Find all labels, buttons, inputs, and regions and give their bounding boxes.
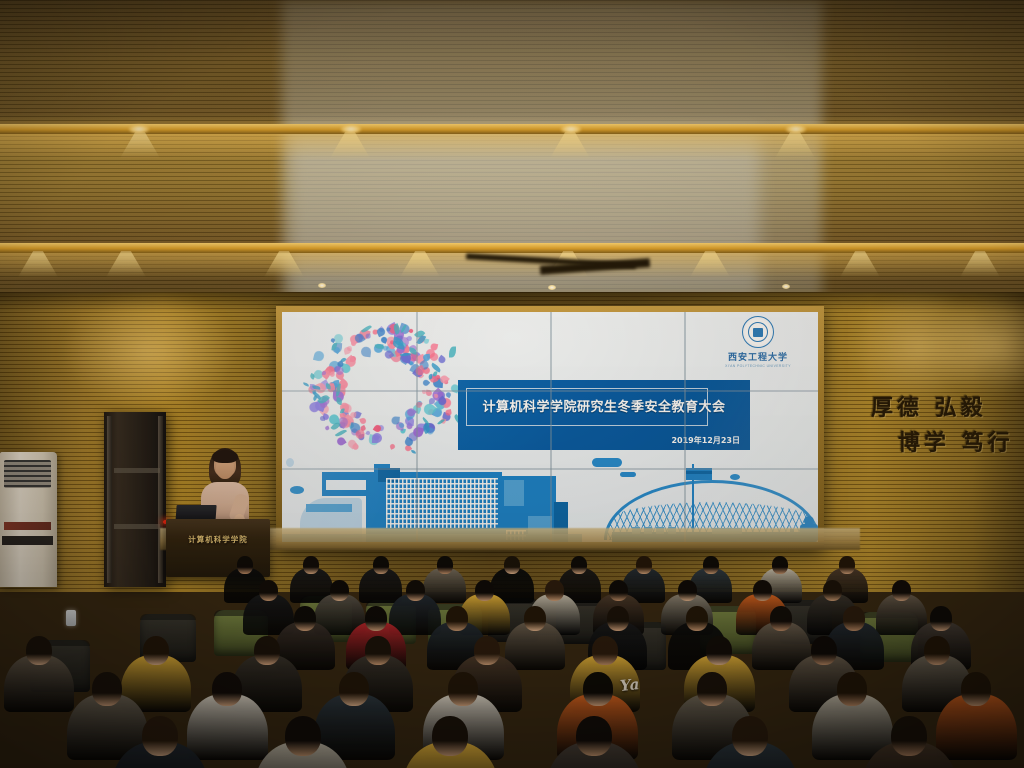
cove-lamp xyxy=(785,124,807,134)
audience-member-head xyxy=(26,636,52,665)
audience-member-head xyxy=(609,580,628,601)
cove-lamp xyxy=(128,124,150,134)
flower-leaf xyxy=(335,397,342,405)
flower-petal xyxy=(431,344,439,352)
jacket-lettering: Ya xyxy=(619,675,640,695)
audience-member-head xyxy=(753,580,772,601)
flower-petal xyxy=(359,418,367,426)
audience-member-head xyxy=(475,580,494,601)
wall-motto-line-1: 厚德 弘毅 xyxy=(871,390,987,422)
screen-bezel-horizontal xyxy=(282,390,818,392)
flower-leaf xyxy=(303,382,310,387)
audience-member-head xyxy=(703,556,719,574)
audience-member-head xyxy=(448,672,478,706)
audience-member-head xyxy=(303,556,319,574)
audience-member-head xyxy=(339,672,369,706)
ceiling-downlight xyxy=(782,284,790,289)
audience-member-head xyxy=(142,716,178,756)
flower-petal xyxy=(434,394,439,399)
flower-petal xyxy=(351,341,356,346)
rack-shelf xyxy=(114,468,160,473)
audience-member-head xyxy=(365,636,391,665)
cove-lamp xyxy=(560,124,582,134)
rack-rail-right xyxy=(158,416,163,583)
presenter-fringe xyxy=(212,450,238,463)
ac-lower-strip xyxy=(2,536,53,545)
screen-bezel-vertical xyxy=(550,312,552,542)
audience-member-head xyxy=(583,672,613,706)
audience-member-head xyxy=(732,716,768,756)
flower-petal xyxy=(376,327,386,337)
cove-lamp xyxy=(340,124,362,134)
audience-member-head xyxy=(524,606,546,631)
audience-member-head xyxy=(811,636,837,665)
audience-member-head xyxy=(823,580,842,601)
audience-member-head xyxy=(772,556,788,574)
audience-member-head xyxy=(294,606,316,631)
av-equipment-rack xyxy=(104,412,166,587)
ceiling-downlight xyxy=(318,283,326,288)
photo-scene: 厚德 弘毅 博学 笃行 xyxy=(0,0,1024,768)
flower-leaf xyxy=(449,347,456,358)
audience-member-head xyxy=(924,636,950,665)
slide-title-text: 计算机科学学院研究生冬季安全教育大会 xyxy=(472,396,736,415)
audience-member-head xyxy=(330,580,349,601)
audience-member-head xyxy=(697,672,727,706)
video-wall-frame: 计算机科学学院研究生冬季安全教育大会 2019年12月23日 西安工程大学 XI… xyxy=(276,306,824,548)
audience-member-head xyxy=(636,556,652,574)
cloud-graphic xyxy=(290,486,304,494)
audience-member-head xyxy=(365,606,387,631)
presentation-screen[interactable]: 计算机科学学院研究生冬季安全教育大会 2019年12月23日 西安工程大学 XI… xyxy=(282,312,818,542)
audience-member-head xyxy=(843,606,865,631)
audience-member-head xyxy=(437,556,453,574)
screen-bezel-vertical xyxy=(416,312,418,542)
university-name-cn: 西安工程大学 xyxy=(710,350,806,363)
ac-vent-grille xyxy=(4,460,51,488)
podium-sign-text: 计算机科学学院 xyxy=(174,534,262,545)
ceiling-downlight xyxy=(548,285,556,290)
wall-motto-line-2: 博学 笃行 xyxy=(898,425,1014,457)
audience-member-head xyxy=(254,636,280,665)
flower-petal xyxy=(399,422,405,428)
audience-member-head xyxy=(961,672,991,706)
flower-petal xyxy=(322,370,326,374)
audience-member-head xyxy=(686,606,708,631)
ceiling-dark-band xyxy=(0,0,1024,120)
audience-member-head xyxy=(678,580,697,601)
flower-petal xyxy=(335,435,347,447)
chair-rim xyxy=(140,614,196,620)
audience-member-head xyxy=(892,580,911,601)
audience-member-head xyxy=(571,556,587,574)
ac-control-panel xyxy=(4,522,51,530)
audience-member-head xyxy=(237,556,253,574)
university-seal-icon xyxy=(742,316,774,348)
audience-member-head xyxy=(446,606,468,631)
cloud-graphic xyxy=(620,472,636,477)
air-conditioner xyxy=(0,452,57,587)
audience-member-head xyxy=(432,716,468,756)
audience-member-head xyxy=(406,580,425,601)
audience-member-head xyxy=(212,672,242,706)
cloud-graphic xyxy=(286,458,294,467)
audience-member-head xyxy=(259,580,278,601)
flower-petal xyxy=(389,443,396,450)
cloud-graphic xyxy=(730,474,740,480)
audience-member-head xyxy=(592,636,618,665)
university-logo: 西安工程大学 XI'AN POLYTECHNIC UNIVERSITY xyxy=(710,316,806,368)
audience-member-head xyxy=(930,606,952,631)
flower-petal xyxy=(423,354,431,362)
screen-bezel-vertical xyxy=(684,312,686,542)
flower-petal xyxy=(361,347,372,358)
university-name-en: XI'AN POLYTECHNIC UNIVERSITY xyxy=(710,364,806,368)
floral-wreath-graphic xyxy=(294,318,470,460)
screen-bezel-horizontal xyxy=(282,468,818,470)
ceiling-cove-light-lower xyxy=(0,243,1024,253)
audience-member-head xyxy=(92,672,122,706)
ceiling-cove-light-upper xyxy=(0,124,1024,134)
flower-petal xyxy=(372,433,382,443)
flower-petal xyxy=(324,426,330,432)
flower-petal xyxy=(366,334,371,339)
audience-member-head xyxy=(373,556,389,574)
slide-date-text: 2019年12月23日 xyxy=(671,435,740,446)
rack-rail-left xyxy=(107,416,112,583)
rack-shelf xyxy=(114,524,160,529)
audience-member-head xyxy=(576,716,612,756)
audience-member-head xyxy=(706,636,732,665)
flower-petal xyxy=(329,372,335,378)
flower-leaf xyxy=(375,343,385,349)
flower-petal xyxy=(313,350,325,362)
audience-member-head xyxy=(143,636,169,665)
audience-member-head xyxy=(837,672,867,706)
audience-member-head xyxy=(285,716,321,756)
cloud-graphic xyxy=(592,458,622,467)
audience-member-head xyxy=(504,556,520,574)
flower-petal xyxy=(320,416,325,421)
audience-member-head xyxy=(607,606,629,631)
flower-petal xyxy=(446,409,453,416)
audience-member-head xyxy=(891,716,927,756)
wall-light-pool xyxy=(60,292,240,412)
audience-member-head xyxy=(474,636,500,665)
audience-member-head xyxy=(839,556,855,574)
audience-member-head xyxy=(545,580,564,601)
smartphone xyxy=(66,610,76,626)
audience-member-head xyxy=(770,606,792,631)
